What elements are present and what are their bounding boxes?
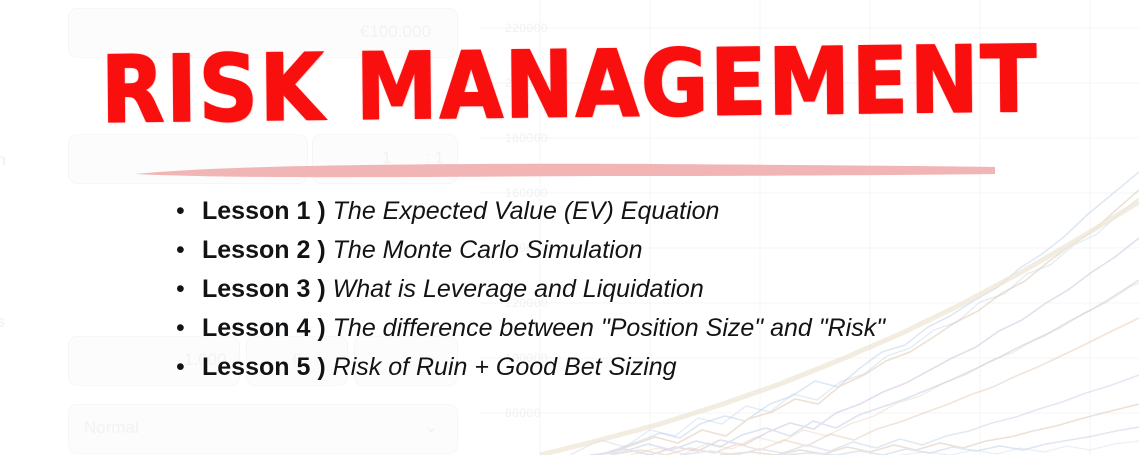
edge-label-fragment-bottom: s: [0, 312, 5, 332]
lesson-text: Risk of Ruin + Good Bet Sizing: [333, 352, 677, 382]
list-item: • Lesson 1 ) The Expected Value (EV) Equ…: [176, 196, 1056, 226]
bullet-icon: •: [176, 196, 202, 226]
lesson-label: Lesson 4 ): [202, 313, 326, 343]
lesson-label: Lesson 2 ): [202, 235, 326, 265]
lesson-label: Lesson 3 ): [202, 274, 326, 304]
lesson-label: Lesson 5 ): [202, 352, 326, 382]
distribution-select-value: Normal: [84, 418, 139, 438]
list-item: • Lesson 4 ) The difference between "Pos…: [176, 313, 1056, 343]
slide-canvas: 220000 200000 180000 160000 140000 12000…: [0, 0, 1139, 455]
page-title-wrap: RISK MANAGEMENT: [0, 38, 1139, 133]
edge-label-fragment-top: n: [0, 150, 6, 170]
lesson-list: • Lesson 1 ) The Expected Value (EV) Equ…: [176, 196, 1056, 391]
list-item: • Lesson 2 ) The Monte Carlo Simulation: [176, 235, 1056, 265]
page-title: RISK MANAGEMENT: [100, 27, 1038, 144]
lesson-text: The Monte Carlo Simulation: [333, 235, 643, 265]
lesson-text: The Expected Value (EV) Equation: [333, 196, 720, 226]
lesson-text: The difference between "Position Size" a…: [333, 313, 885, 343]
bullet-icon: •: [176, 313, 202, 343]
bullet-icon: •: [176, 235, 202, 265]
lesson-text: What is Leverage and Liquidation: [333, 274, 704, 304]
chevron-down-icon[interactable]: ⌄: [425, 420, 438, 435]
list-item: • Lesson 3 ) What is Leverage and Liquid…: [176, 274, 1056, 304]
list-item: • Lesson 5 ) Risk of Ruin + Good Bet Siz…: [176, 352, 1056, 382]
bullet-icon: •: [176, 352, 202, 382]
bullet-icon: •: [176, 274, 202, 304]
lesson-label: Lesson 1 ): [202, 196, 326, 226]
chart-ytick-80000: 80000: [505, 406, 541, 420]
title-underline: [133, 160, 997, 182]
